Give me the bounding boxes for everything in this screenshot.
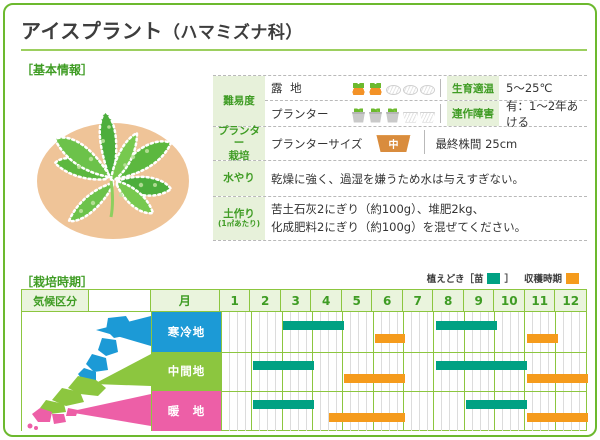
planting-bar-中間地 xyxy=(253,361,314,370)
table-row-soil: 土作り (1㎡あたり) 苦土石灰2にぎり（約100g）、堆肥2kg、 化成肥料2… xyxy=(213,197,587,241)
plant-illustration xyxy=(21,81,211,261)
planting-bar-暖 地 xyxy=(466,400,527,409)
region-label-寒冷地: 寒冷地 xyxy=(152,312,222,352)
header-map-spacer xyxy=(89,290,150,311)
cell-divider xyxy=(440,104,441,123)
crop-rotation-value: 有：1〜2年あける xyxy=(499,98,587,130)
pot-icon-empty xyxy=(419,107,434,121)
row-header-watering: 水やり xyxy=(213,161,265,196)
region-label-中間地: 中間地 xyxy=(152,352,222,392)
row-header-growth-temp: 生育適温 xyxy=(447,76,499,100)
page-title: アイスプラント（ハマミズナ科） xyxy=(21,15,303,44)
carrot-icon-filled xyxy=(351,82,366,95)
planting-bar-暖 地 xyxy=(253,400,314,409)
month-header-6: 6 xyxy=(372,290,403,311)
planting-bar-寒冷地 xyxy=(436,321,497,330)
planter-size-label: プランターサイズ xyxy=(271,136,362,152)
calendar-grid xyxy=(222,312,586,431)
month-header-11: 11 xyxy=(525,290,556,311)
title-divider xyxy=(21,49,587,51)
legend-harvest-label: 収穫時期 xyxy=(524,271,562,285)
month-header-1: 1 xyxy=(220,290,251,311)
month-header-9: 9 xyxy=(464,290,495,311)
header-climate-zone: 気候区分 xyxy=(22,290,89,311)
japan-map-panel xyxy=(22,312,152,431)
region-label-column: 寒冷地中間地暖 地 xyxy=(152,312,222,431)
grid-column-10 xyxy=(495,312,525,431)
open-field-label: 露 地 xyxy=(265,80,351,96)
table-row-watering: 水やり 乾燥に強く、過湿を嫌うため水は与えすぎない。 xyxy=(213,161,587,197)
legend-harvest-swatch xyxy=(566,273,579,284)
month-header-2: 2 xyxy=(250,290,281,311)
row-header-difficulty: 難易度 xyxy=(213,76,265,126)
pot-icon-empty xyxy=(402,107,417,121)
harvest-bar-暖 地 xyxy=(527,413,588,422)
planting-bar-中間地 xyxy=(436,361,528,370)
carrot-icon-empty xyxy=(419,82,434,95)
japan-map-icon xyxy=(22,312,151,431)
legend-planting-label: 植えどき［苗 xyxy=(427,271,484,285)
month-header-5: 5 xyxy=(342,290,373,311)
section-heading-period: ［栽培時期］ xyxy=(21,273,93,290)
month-header-4: 4 xyxy=(311,290,342,311)
month-header-cells: 123456789101112 xyxy=(220,290,586,311)
harvest-bar-中間地 xyxy=(344,374,405,383)
row-header-crop-rotation: 連作障害 xyxy=(447,101,499,126)
calendar-body: 寒冷地中間地暖 地 xyxy=(22,312,586,431)
soil-line-1: 苦土石灰2にぎり（約100g）、堆肥2kg、 xyxy=(271,201,484,218)
legend-planting-swatch xyxy=(487,273,500,284)
header-month: 月 xyxy=(151,290,220,311)
planter-rating xyxy=(351,107,434,121)
harvest-bar-中間地 xyxy=(527,374,588,383)
grid-column-2 xyxy=(252,312,282,431)
region-row-divider xyxy=(222,391,586,392)
plant-name: アイスプラント xyxy=(21,19,163,43)
month-header-10: 10 xyxy=(494,290,525,311)
plant-family: （ハマミズナ科） xyxy=(163,23,303,43)
carrot-icon-empty xyxy=(385,82,400,95)
cell-divider xyxy=(440,79,441,97)
carrot-icon-empty xyxy=(402,82,417,95)
month-header-12: 12 xyxy=(555,290,586,311)
region-row-divider xyxy=(222,352,586,353)
table-row-difficulty: 難易度 露 地 生育適温 5〜25℃ プラ xyxy=(213,75,587,127)
calendar-header-row: 気候区分 月 123456789101112 xyxy=(22,290,586,312)
open-field-rating xyxy=(351,82,434,95)
grid-column-7 xyxy=(404,312,434,431)
legend-planting-close: ］ xyxy=(504,271,514,285)
month-header-3: 3 xyxy=(281,290,312,311)
month-header-8: 8 xyxy=(433,290,464,311)
calendar-legend: 植えどき［苗 ］ 収穫時期 xyxy=(427,271,579,285)
info-card: アイスプラント（ハマミズナ科） ［基本情報］ xyxy=(3,3,597,437)
planter-label: プランター xyxy=(265,106,351,122)
region-label-暖 地: 暖 地 xyxy=(152,391,222,431)
planter-size-badge: 中 xyxy=(376,135,410,152)
row-header-soil: 土作り (1㎡あたり) xyxy=(213,197,265,240)
section-heading-basic-info: ［基本情報］ xyxy=(21,61,93,78)
final-spacing-value: 最終株間 25cm xyxy=(435,136,517,152)
cultivation-calendar: 気候区分 月 123456789101112 xyxy=(21,289,587,431)
pot-icon-filled xyxy=(351,107,366,121)
soil-line-2: 化成肥料2にぎり（約100g）を混ぜてください。 xyxy=(271,219,526,236)
harvest-bar-寒冷地 xyxy=(375,334,406,343)
harvest-bar-寒冷地 xyxy=(527,334,558,343)
planting-bar-寒冷地 xyxy=(283,321,344,330)
cell-divider xyxy=(424,130,425,154)
pot-icon-filled xyxy=(368,107,383,121)
harvest-bar-暖 地 xyxy=(329,413,405,422)
basic-info-table: 難易度 露 地 生育適温 5〜25℃ プラ xyxy=(213,75,587,241)
growth-temp-value: 5〜25℃ xyxy=(499,80,587,96)
table-row-planter-cultivation: プランター 栽培 プランターサイズ 中 最終株間 25cm xyxy=(213,127,587,161)
grid-column-1 xyxy=(222,312,252,431)
watering-value: 乾燥に強く、過湿を嫌うため水は与えすぎない。 xyxy=(265,161,587,196)
row-header-planter-cultivation: プランター 栽培 xyxy=(213,127,265,160)
month-header-7: 7 xyxy=(403,290,434,311)
carrot-icon-filled xyxy=(368,82,383,95)
pot-icon-filled xyxy=(385,107,400,121)
